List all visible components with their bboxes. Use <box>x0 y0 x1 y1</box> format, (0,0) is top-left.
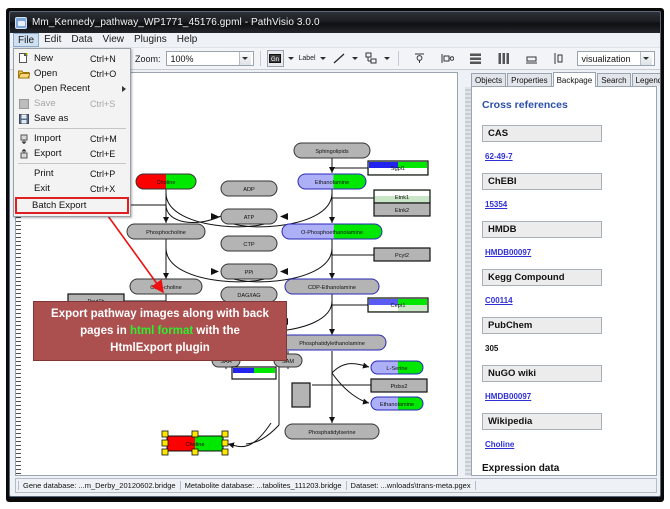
file-menu-save-accel: Ctrl+S <box>90 99 115 109</box>
svg-text:Pcyt2: Pcyt2 <box>395 253 409 259</box>
svg-text:ADP: ADP <box>243 187 255 193</box>
file-menu-exit-accel: Ctrl+X <box>90 184 115 194</box>
menu-help[interactable]: Help <box>172 33 203 47</box>
tab-search[interactable]: Search <box>597 73 630 86</box>
svg-text:Sgpl1: Sgpl1 <box>391 166 405 172</box>
chevron-right-icon <box>122 86 126 92</box>
node-atp: ATP <box>221 209 277 224</box>
svg-text:Etnk1: Etnk1 <box>395 195 409 201</box>
node-o-phosphoethanolamine: O-Phosphoethanolamine <box>282 224 382 239</box>
file-menu-export-label: Export <box>34 148 90 159</box>
label-icon[interactable]: Label <box>299 50 316 67</box>
expression-data-title: Expression data <box>482 463 646 474</box>
file-menu-new[interactable]: New Ctrl+N <box>14 51 130 66</box>
toolbar-separator-2 <box>398 51 399 66</box>
menu-edit[interactable]: Edit <box>39 33 66 47</box>
file-menu-import-label: Import <box>34 133 90 144</box>
file-menu-print-label: Print <box>34 168 90 179</box>
interaction-icon[interactable] <box>363 50 380 67</box>
file-menu-save: Save Ctrl+S <box>14 96 130 111</box>
interaction-dropdown-icon[interactable] <box>383 50 392 67</box>
import-icon <box>16 132 31 145</box>
annotation-line-1: Export pathway images along with back <box>34 306 286 323</box>
menu-view[interactable]: View <box>97 33 129 47</box>
menu-file[interactable]: File <box>13 33 39 47</box>
file-menu-import[interactable]: Import Ctrl+M <box>14 131 130 146</box>
backpage-content: Cross references CAS 62-49-7 ChEBI 15354… <box>471 87 657 476</box>
distribute-horizontal-icon[interactable] <box>495 50 512 67</box>
xref-header-cas: CAS <box>482 125 602 142</box>
export-icon <box>16 147 31 160</box>
chevron-down-icon-2[interactable] <box>640 52 652 65</box>
pathvisio-window: Mm_Kennedy_pathway_WP1771_45176.gpml - P… <box>9 11 661 497</box>
window-title: Mm_Kennedy_pathway_WP1771_45176.gpml - P… <box>32 17 320 28</box>
zoom-label: Zoom: <box>135 54 161 64</box>
file-menu-open-accel: Ctrl+O <box>90 69 116 79</box>
xref-link-nugo-wiki[interactable]: HMDB00097 <box>485 392 531 401</box>
file-menu-save-as[interactable]: Save as <box>14 111 130 126</box>
label-dropdown-icon[interactable] <box>319 50 328 67</box>
svg-text:Choline: Choline <box>186 442 205 448</box>
node-etnk2: Etnk2 <box>374 203 430 216</box>
svg-text:O-Phosphoethanolamine: O-Phosphoethanolamine <box>301 230 363 236</box>
svg-text:Choline: Choline <box>157 180 176 186</box>
node-ethanolamine-top: Ethanolamine <box>298 174 366 189</box>
node-ptdss2: Ptdss2 <box>371 379 427 392</box>
node-choline-top: Choline <box>136 174 196 189</box>
file-menu-save-label: Save <box>34 98 90 109</box>
node-dag: DAG/IAG <box>221 287 277 302</box>
xref-link-hmdb[interactable]: HMDB00097 <box>485 248 531 257</box>
tab-objects[interactable]: Objects <box>471 73 506 86</box>
svg-text:CDP-choline: CDP-choline <box>150 285 181 291</box>
new-file-icon <box>16 52 31 65</box>
file-menu-open-label: Open <box>34 68 90 79</box>
same-height-icon[interactable] <box>551 50 568 67</box>
svg-text:Phosphocholine: Phosphocholine <box>146 230 186 236</box>
line-dropdown-icon[interactable] <box>351 50 360 67</box>
empty-icon <box>16 82 31 95</box>
svg-text:Cept1: Cept1 <box>391 303 406 309</box>
svg-text:CTP: CTP <box>243 242 254 248</box>
file-menu-open[interactable]: Open Ctrl+O <box>14 66 130 81</box>
xref-header-nugo-wiki: NuGO wiki <box>482 365 602 382</box>
title-bar: Mm_Kennedy_pathway_WP1771_45176.gpml - P… <box>10 12 661 33</box>
xref-value-pubchem: 305 <box>485 344 498 353</box>
xref-header-hmdb: HMDB <box>482 221 602 238</box>
xref-link-cas[interactable]: 62-49-7 <box>485 152 513 161</box>
distribute-vertical-icon[interactable] <box>467 50 484 67</box>
node-ctp: CTP <box>221 236 277 251</box>
file-menu-export[interactable]: Export Ctrl+E <box>14 146 130 161</box>
cross-references-title: Cross references <box>482 99 646 111</box>
xref-header-kegg-compound: Kegg Compound <box>482 269 602 286</box>
node-cept1: Cept1 <box>368 298 428 312</box>
file-menu-batch-export[interactable]: Batch Export <box>15 197 129 214</box>
svg-text:Phosphatidylethanolamine: Phosphatidylethanolamine <box>299 341 365 347</box>
xref-header-pubchem: PubChem <box>482 317 602 334</box>
visualization-value: visualization <box>582 54 631 64</box>
file-menu-print[interactable]: Print Ctrl+P <box>14 166 130 181</box>
side-panel: Objects Properties Backpage Search Legen… <box>465 72 657 476</box>
pathvisio-app-icon <box>15 17 27 29</box>
node-cdp-ethanolamine: CDP-Ethanolamine <box>285 279 379 294</box>
node-pcyt2: Pcyt2 <box>374 248 430 261</box>
node-adp: ADP <box>221 181 277 196</box>
app-window: Mm_Kennedy_pathway_WP1771_45176.gpml - P… <box>0 0 670 509</box>
svg-text:Phosphatidylserine: Phosphatidylserine <box>308 430 355 436</box>
save-as-icon <box>16 112 31 125</box>
xref-header-wikipedia: Wikipedia <box>482 413 602 430</box>
annotation-line-2a: pages in <box>80 325 130 337</box>
file-menu-new-label: New <box>34 53 90 64</box>
file-menu-exit[interactable]: Exit Ctrl+X <box>14 181 130 196</box>
node-phosphatidylethanolamine: Phosphatidylethanolamine <box>278 335 386 350</box>
node-cdp-choline: CDP-choline <box>130 279 202 294</box>
node-etnk1: Etnk1 <box>374 190 430 203</box>
annotation-line-2: pages in html format with the <box>34 323 286 340</box>
datanode-dropdown-icon[interactable] <box>287 50 296 67</box>
node-phosphatidylserine: Phosphatidylserine <box>285 424 379 439</box>
menu-bar: File Edit Data View Plugins Help <box>10 33 661 48</box>
save-icon <box>16 97 31 110</box>
file-menu-new-accel: Ctrl+N <box>90 54 116 64</box>
menu-data[interactable]: Data <box>66 33 97 47</box>
chevron-down-icon[interactable] <box>239 52 251 65</box>
file-menu-open-recent-label: Open Recent <box>34 83 90 94</box>
file-menu-separator-2 <box>18 163 126 164</box>
align-top-icon[interactable] <box>411 50 428 67</box>
annotation-highlight: html format <box>130 325 193 337</box>
status-dataset: Dataset: ...wnloads\trans-meta.pgex <box>347 481 476 490</box>
file-menu-import-accel: Ctrl+M <box>90 134 117 144</box>
file-menu-export-accel: Ctrl+E <box>90 149 115 159</box>
xref-link-chebi[interactable]: 15354 <box>485 200 507 209</box>
svg-text:PPi: PPi <box>245 270 254 276</box>
file-menu-exit-label: Exit <box>34 183 90 194</box>
node-pemt <box>232 367 276 379</box>
svg-text:DAG/IAG: DAG/IAG <box>237 293 260 299</box>
node-l-serine: L-Serine <box>371 361 423 374</box>
xref-header-chebi: ChEBI <box>482 173 602 190</box>
xref-link-wikipedia[interactable]: Choline <box>485 440 514 449</box>
visualization-select[interactable]: visualization <box>577 51 655 66</box>
open-folder-icon <box>16 67 31 80</box>
node-ethanolamine-right: Ethanolamine <box>371 397 423 410</box>
tab-backpage[interactable]: Backpage <box>553 72 597 87</box>
panel-tabstrip: Objects Properties Backpage Search Legen… <box>471 72 657 87</box>
tab-legend[interactable]: Legend <box>632 73 661 86</box>
empty-icon-3 <box>16 182 31 195</box>
svg-text:Ptdss2: Ptdss2 <box>390 384 407 390</box>
datanode-icon[interactable]: Gn <box>267 50 284 67</box>
annotation-callout: Export pathway images along with back pa… <box>33 301 287 361</box>
file-menu-print-accel: Ctrl+P <box>90 169 115 179</box>
status-gene-database: Gene database: ...m_Derby_20120602.bridg… <box>18 481 181 490</box>
annotation-line-2b: with the <box>193 325 240 337</box>
status-metabolite-database: Metabolite database: ...tabolites_111203… <box>181 481 347 490</box>
svg-text:Etnk2: Etnk2 <box>395 208 409 214</box>
node-ppi: PPi <box>221 264 277 279</box>
zoom-value: 100% <box>171 54 194 64</box>
svg-text:Sphingolipids: Sphingolipids <box>315 149 348 155</box>
menu-plugins[interactable]: Plugins <box>129 33 172 47</box>
file-menu-dropdown[interactable]: New Ctrl+N Open Ctrl+O Open Recent Save <box>13 48 131 217</box>
status-bar: Gene database: ...m_Derby_20120602.bridg… <box>15 478 657 493</box>
svg-text:ATP: ATP <box>244 215 255 221</box>
align-left-icon[interactable] <box>439 50 456 67</box>
file-menu-save-as-label: Save as <box>34 113 90 124</box>
file-menu-separator-1 <box>18 128 126 129</box>
node-pld <box>292 383 310 407</box>
tab-properties[interactable]: Properties <box>507 73 551 86</box>
annotation-line-3: HtmlExport plugin <box>34 340 286 357</box>
xref-link-kegg-compound[interactable]: C00114 <box>485 296 513 305</box>
toolbar-separator <box>260 51 261 66</box>
file-menu-batch-export-label: Batch Export <box>32 200 86 211</box>
empty-icon-2 <box>16 167 31 180</box>
svg-text:CDP-Ethanolamine: CDP-Ethanolamine <box>308 285 356 291</box>
svg-text:Ethanolamine: Ethanolamine <box>380 402 414 408</box>
node-sgpl1: Sgpl1 <box>368 161 428 175</box>
same-width-icon[interactable] <box>523 50 540 67</box>
svg-text:Gn: Gn <box>271 57 279 63</box>
file-menu-open-recent[interactable]: Open Recent <box>14 81 130 96</box>
svg-text:Ethanolamine: Ethanolamine <box>315 180 349 186</box>
node-sphingolipids: Sphingolipids <box>294 143 370 158</box>
label-button-text: Label <box>298 55 315 62</box>
zoom-select[interactable]: 100% <box>166 51 254 66</box>
svg-text:L-Serine: L-Serine <box>386 366 407 372</box>
node-phosphocholine: Phosphocholine <box>127 224 205 239</box>
line-icon[interactable] <box>331 50 348 67</box>
